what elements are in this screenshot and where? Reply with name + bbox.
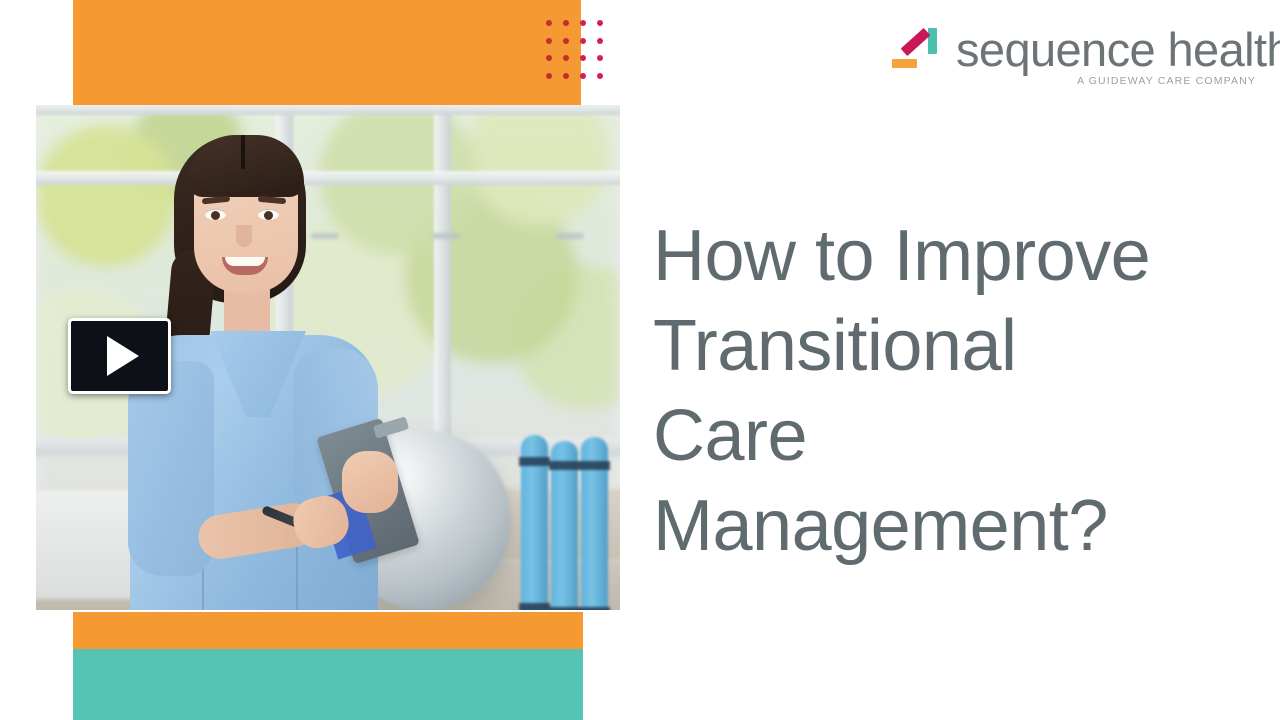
yoga-mat xyxy=(581,437,608,610)
brand-tagline: A GUIDEWAY CARE COMPANY xyxy=(1077,75,1256,87)
dot xyxy=(563,20,569,26)
yoga-mat xyxy=(521,435,548,610)
play-icon xyxy=(107,336,139,376)
teal-bottom-band xyxy=(73,649,583,720)
play-button[interactable] xyxy=(68,318,171,394)
page-title: How to Improve Transitional Care Managem… xyxy=(653,211,1213,571)
window-handle xyxy=(432,233,460,239)
title-line-3: Care xyxy=(653,396,807,476)
orange-top-band xyxy=(73,0,581,106)
mat-strap xyxy=(579,461,610,470)
pupil xyxy=(211,211,220,220)
dot xyxy=(546,38,552,44)
dot xyxy=(580,38,586,44)
nose xyxy=(236,225,252,247)
dot xyxy=(546,55,552,61)
mark-orange-bar-icon xyxy=(892,59,917,68)
mat-strap xyxy=(519,457,550,466)
dot xyxy=(597,73,603,79)
orange-bottom-band xyxy=(73,612,583,649)
brand-logo[interactable]: sequence health A GUIDEWAY CARE COMPANY xyxy=(892,28,1258,94)
title-line-1: How to Improve xyxy=(653,216,1150,296)
title-line-2: Transitional xyxy=(653,306,1017,386)
window-mullion xyxy=(434,105,451,438)
dot xyxy=(580,73,586,79)
hair-front xyxy=(188,135,304,197)
mat-strap xyxy=(549,607,580,610)
title-line-4: Management? xyxy=(653,486,1108,566)
mat-strap xyxy=(519,603,550,610)
dot xyxy=(597,20,603,26)
slide-canvas: sequence health A GUIDEWAY CARE COMPANY … xyxy=(0,0,1280,720)
hair-part xyxy=(241,135,245,169)
sequence-health-mark-icon xyxy=(892,28,944,72)
dot xyxy=(563,73,569,79)
dot xyxy=(546,20,552,26)
dot-grid-decoration xyxy=(546,20,614,90)
teeth xyxy=(225,257,265,266)
dot xyxy=(563,55,569,61)
rolled-yoga-mats xyxy=(521,435,620,610)
yoga-mat xyxy=(551,441,578,610)
dot xyxy=(580,20,586,26)
mark-magenta-bar-icon xyxy=(901,28,931,56)
window-handle xyxy=(556,233,584,239)
mark-teal-bar-icon xyxy=(928,28,937,54)
mat-strap xyxy=(549,461,580,470)
dot xyxy=(563,38,569,44)
dot xyxy=(546,73,552,79)
pupil xyxy=(264,211,273,220)
dot xyxy=(580,55,586,61)
dot xyxy=(597,55,603,61)
brand-wordmark: sequence health xyxy=(956,22,1280,77)
dot xyxy=(597,38,603,44)
right-hand xyxy=(342,451,398,513)
mat-strap xyxy=(579,607,610,610)
